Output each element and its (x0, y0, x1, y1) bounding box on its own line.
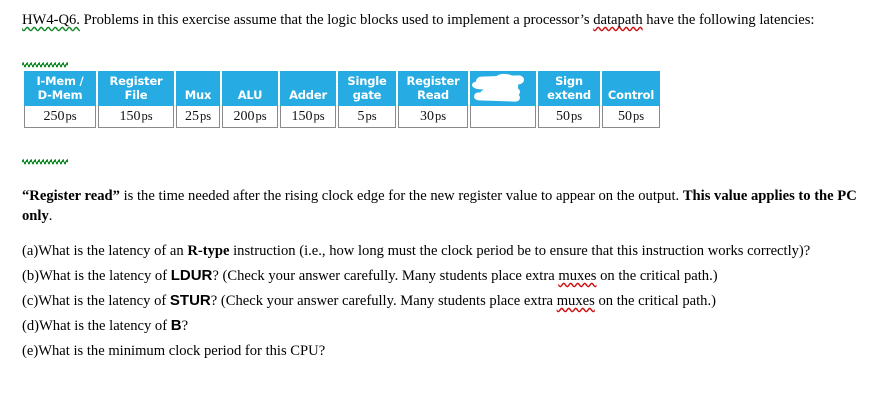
question-marker: (d) (22, 318, 39, 334)
col-header-register-file: Register File (98, 71, 174, 106)
col-header-line2: ALU (225, 89, 275, 103)
col-header-line2: Mux (179, 89, 217, 103)
value-unit: ps (200, 109, 211, 123)
value-register-read: 30ps (398, 106, 468, 128)
question-d: (d)What is the latency of B? (22, 316, 880, 336)
intro-paragraph: HW4-Q6. Problems in this exercise assume… (22, 10, 878, 30)
question-text-part2: ? (Check your answer carefully. Many stu… (211, 293, 557, 309)
question-text-part1: What is the latency of an (38, 243, 187, 259)
spellcheck-squiggle-bottom (22, 159, 68, 165)
col-header-imem-dmem: I-Mem / D-Mem (24, 71, 96, 106)
col-header-line1: Register (101, 75, 171, 89)
col-header-line1: Register (401, 75, 465, 89)
col-header-alu: ALU (222, 71, 278, 106)
value-register-file: 150ps (98, 106, 174, 128)
question-keyword: LDUR (171, 267, 213, 284)
col-header-mux: Mux (176, 71, 220, 106)
question-keyword: B (171, 317, 182, 334)
question-text-part1: What is the latency of (38, 293, 170, 309)
value-adder: 150ps (280, 106, 336, 128)
question-keyword: R-type (187, 243, 229, 259)
col-header-line2: File (101, 89, 171, 103)
misspelled-word-muxes: muxes (557, 293, 595, 309)
value-number: 150 (291, 109, 312, 124)
col-header-control: Control (602, 71, 660, 106)
question-text-part2: ? (182, 318, 188, 334)
value-unit: ps (571, 109, 582, 123)
value-redacted (470, 106, 536, 128)
table-value-row: 250ps 150ps 25ps 200ps 150ps 5ps 30ps 50… (24, 106, 660, 128)
question-marker: (b) (22, 268, 39, 284)
question-c: (c)What is the latency of STUR? (Check y… (22, 291, 880, 311)
col-header-line1: Single (341, 75, 393, 89)
value-alu: 200ps (222, 106, 278, 128)
col-header-line2: D-Mem (27, 89, 93, 103)
col-header-line2: gate (341, 89, 393, 103)
document-page: HW4-Q6. Problems in this exercise assume… (0, 0, 896, 419)
col-header-register-read: Register Read (398, 71, 468, 106)
value-unit: ps (365, 109, 376, 123)
question-b: (b)What is the latency of LDUR? (Check y… (22, 266, 880, 286)
col-header-redacted (470, 71, 536, 106)
register-read-note: “Register read” is the time needed after… (22, 186, 878, 226)
question-text-part2: ? (Check your answer carefully. Many stu… (212, 268, 558, 284)
col-header-adder: Adder (280, 71, 336, 106)
value-unit: ps (435, 109, 446, 123)
col-header-line1: I-Mem / (27, 75, 93, 89)
value-unit: ps (633, 109, 644, 123)
value-number: 250 (43, 109, 64, 124)
question-label: HW4-Q6. (22, 12, 80, 28)
question-text-part1: What is the latency of (39, 268, 171, 284)
misspelled-word-muxes: muxes (558, 268, 596, 284)
question-text-part1: What is the minimum clock period for thi… (38, 343, 325, 359)
question-list: (a)What is the latency of an R-type inst… (22, 241, 880, 366)
spellcheck-squiggle-top (22, 62, 68, 68)
value-unit: ps (313, 109, 324, 123)
value-unit: ps (141, 109, 152, 123)
question-e: (e)What is the minimum clock period for … (22, 341, 880, 361)
question-text-part3: on the critical path.) (595, 293, 716, 309)
table-header-row: I-Mem / D-Mem Register File Mux ALU (24, 71, 660, 106)
question-text-part1: What is the latency of (39, 318, 171, 334)
value-number: 30 (420, 109, 434, 124)
note-quoted-term: “Register read” (22, 188, 120, 204)
question-marker: (c) (22, 293, 38, 309)
col-header-line2: extend (541, 89, 597, 103)
question-text-part2: instruction (i.e., how long must the clo… (229, 243, 810, 259)
intro-text-part1: Problems in this exercise assume that th… (80, 12, 593, 28)
value-number: 25 (185, 109, 199, 124)
value-control: 50ps (602, 106, 660, 128)
col-header-line1: Sign (541, 75, 597, 89)
col-header-line2: Read (401, 89, 465, 103)
value-mux: 25ps (176, 106, 220, 128)
question-keyword: STUR (170, 292, 211, 309)
value-number: 200 (233, 109, 254, 124)
value-unit: ps (255, 109, 266, 123)
value-number: 150 (119, 109, 140, 124)
col-header-line2: Adder (283, 89, 333, 103)
value-number: 50 (556, 109, 570, 124)
value-unit: ps (65, 109, 76, 123)
col-header-single-gate: Single gate (338, 71, 396, 106)
question-marker: (e) (22, 343, 38, 359)
note-body: is the time needed after the rising cloc… (120, 188, 683, 204)
value-sign-extend: 50ps (538, 106, 600, 128)
value-single-gate: 5ps (338, 106, 396, 128)
question-a: (a)What is the latency of an R-type inst… (22, 241, 880, 261)
question-text-part3: on the critical path.) (596, 268, 717, 284)
value-imem-dmem: 250ps (24, 106, 96, 128)
col-header-sign-extend: Sign extend (538, 71, 600, 106)
note-period: . (49, 208, 53, 224)
intro-text-part2: have the following latencies: (643, 12, 815, 28)
value-number: 5 (357, 109, 364, 124)
value-number: 50 (618, 109, 632, 124)
question-marker: (a) (22, 243, 38, 259)
latency-table: I-Mem / D-Mem Register File Mux ALU (22, 71, 662, 128)
misspelled-word-datapath: datapath (593, 12, 642, 28)
col-header-line2: Control (605, 89, 657, 103)
